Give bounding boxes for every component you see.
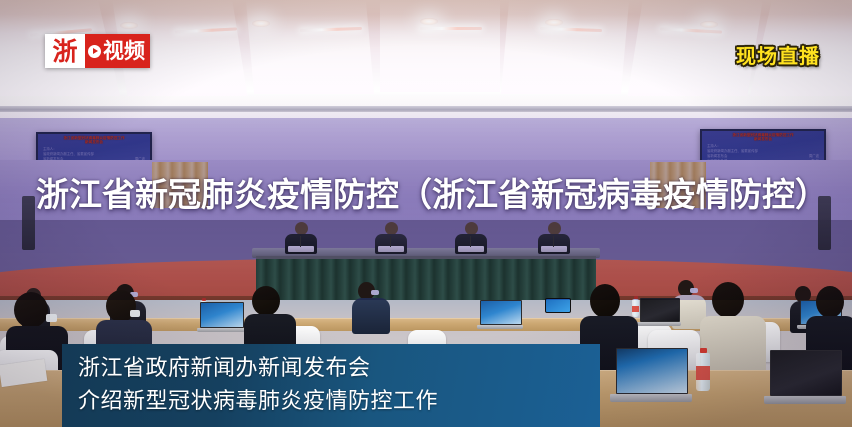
live-badge: 现场直播 xyxy=(736,40,820,69)
caption-line-2: 介绍新型冠状病毒肺炎疫情防控工作 xyxy=(78,385,600,418)
channel-logo[interactable]: 浙 视频 xyxy=(45,34,150,68)
headline-overlay: 浙江省新冠肺炎疫情防控（浙江省新冠病毒疫情防控） xyxy=(0,176,852,214)
lower-third-caption: 浙江省政府新闻办新闻发布会 介绍新型冠状病毒肺炎疫情防控工作 xyxy=(62,344,600,427)
caption-line-1: 浙江省政府新闻办新闻发布会 xyxy=(78,352,600,385)
logo-wordmark: 视频 xyxy=(85,34,150,68)
logo-text: 视频 xyxy=(103,41,145,62)
broadcast-frame: 浙江省新型冠状病毒肺炎疫情防控工作 新闻发布会 主持人： 省政府新闻办副主任、省… xyxy=(0,0,852,427)
play-icon xyxy=(88,45,101,58)
logo-char-zhe: 浙 xyxy=(45,34,85,68)
